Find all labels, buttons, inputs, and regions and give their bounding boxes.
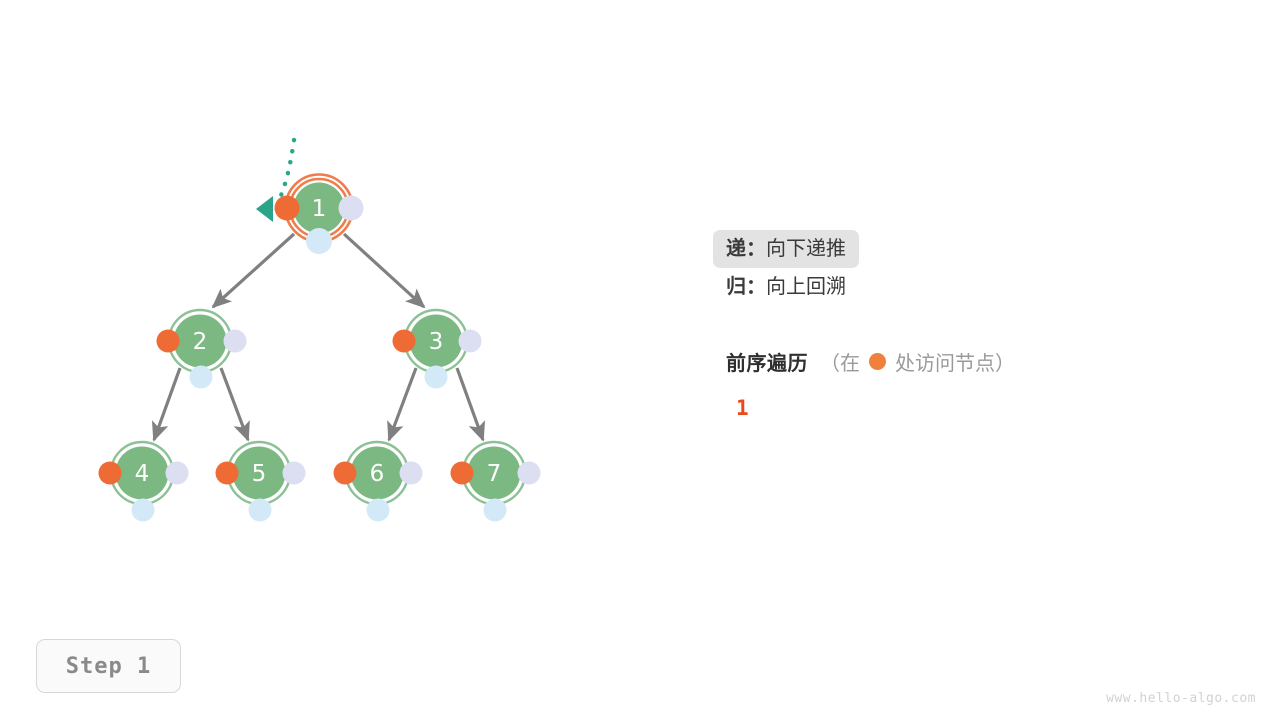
node-4-label: 4 (135, 461, 150, 487)
edge-2-4 (154, 368, 180, 440)
legend-return-text: 向上回溯 (766, 268, 846, 306)
node-1-label: 1 (312, 196, 327, 222)
node-4-bottom-dot (132, 499, 155, 522)
node-7-visit-dot (451, 462, 474, 485)
tree-node-5[interactable]: 5 (216, 442, 306, 522)
diagram-canvas: 1 2 3 4 (0, 0, 1280, 720)
node-3-bottom-dot (425, 366, 448, 389)
node-1-right-dot (339, 196, 364, 221)
node-4-right-dot (166, 462, 189, 485)
tree-node-1[interactable]: 1 (275, 175, 364, 255)
node-5-label: 5 (252, 461, 267, 487)
traversal-note: （在 处访问节点） (820, 347, 1015, 376)
node-5-visit-dot (216, 462, 239, 485)
node-3-visit-dot (393, 330, 416, 353)
traversal-note-after: 处访问节点） (895, 347, 1015, 376)
explanation-panel: 递： 向下递推 归： 向上回溯 前序遍历 （在 处访问节点） 1 (726, 230, 1246, 420)
legend-item-recurse: 递： 向下递推 (713, 230, 859, 268)
tree-node-7[interactable]: 7 (451, 442, 541, 522)
node-3-label: 3 (429, 329, 444, 355)
edge-2-5 (221, 368, 248, 440)
tree-node-2[interactable]: 2 (157, 310, 247, 389)
node-7-bottom-dot (484, 499, 507, 522)
traversal-heading: 前序遍历 （在 处访问节点） (726, 342, 1246, 380)
node-4-visit-dot (99, 462, 122, 485)
node-7-right-dot (518, 462, 541, 485)
traversal-title: 前序遍历 (726, 347, 808, 376)
node-7-label: 7 (487, 461, 502, 487)
node-2-bottom-dot (190, 366, 213, 389)
legend-recurse-lead: 递： (726, 230, 766, 268)
node-6-label: 6 (370, 461, 385, 487)
node-6-visit-dot (334, 462, 357, 485)
legend-return-lead: 归： (726, 268, 766, 306)
legend-item-return: 归： 向上回溯 (726, 268, 1246, 306)
node-6-right-dot (400, 462, 423, 485)
tree-node-4[interactable]: 4 (99, 442, 189, 522)
edge-3-7 (457, 368, 483, 440)
tree-node-3[interactable]: 3 (393, 310, 482, 389)
traversal-sequence: 1 (736, 396, 1246, 420)
node-5-right-dot (283, 462, 306, 485)
watermark: www.hello-algo.com (1106, 691, 1256, 706)
panel-spacer (726, 306, 1246, 342)
tree-node-6[interactable]: 6 (334, 442, 423, 522)
node-1-bottom-dot (306, 228, 332, 254)
node-3-right-dot (459, 330, 482, 353)
legend-recurse-text: 向下递推 (766, 230, 846, 268)
edge-1-2 (213, 234, 294, 307)
node-2-visit-dot (157, 330, 180, 353)
visit-dot-icon (869, 353, 886, 370)
node-5-bottom-dot (249, 499, 272, 522)
node-6-bottom-dot (367, 499, 390, 522)
node-2-label: 2 (193, 329, 208, 355)
edge-1-3 (344, 234, 424, 307)
traversal-note-before: （在 (820, 347, 860, 376)
node-1-visit-dot (275, 196, 300, 221)
node-2-right-dot (224, 330, 247, 353)
edge-3-6 (389, 368, 416, 440)
step-badge: Step 1 (36, 639, 181, 693)
